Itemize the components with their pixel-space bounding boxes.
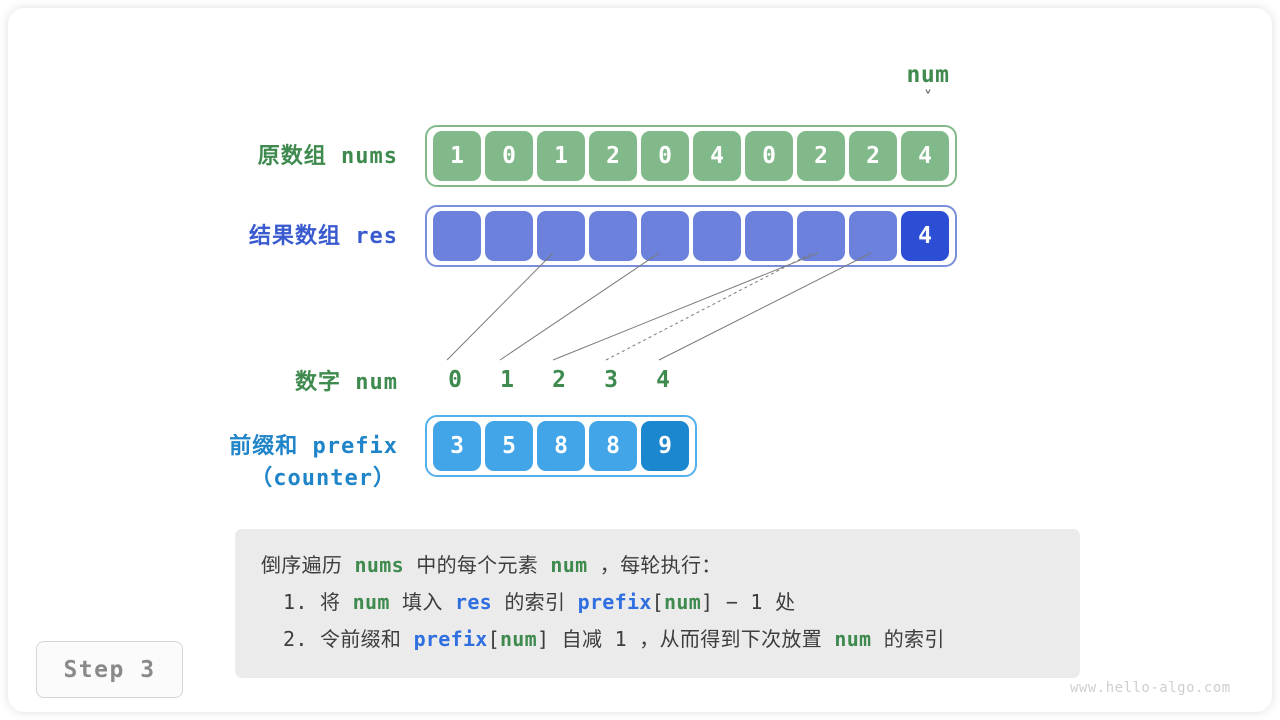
num-row-label: 数字 num — [68, 364, 398, 396]
desc2-part2: 填入 — [390, 590, 455, 614]
num-digit: 0 — [431, 367, 479, 393]
diagram-canvas: num ˅ 原数组 nums 结果数组 res 数字 num 前缀和 prefi… — [8, 8, 1272, 712]
desc1-token-nums: nums — [355, 553, 404, 577]
prefix-row-label-line1: 前缀和 prefix — [229, 434, 398, 459]
prefix-cell: 9 — [641, 421, 689, 471]
num-pointer-label: num — [888, 62, 968, 88]
num-digit: 4 — [639, 367, 687, 393]
desc2-token-num: num — [353, 590, 390, 614]
nums-cell: 1 — [537, 131, 585, 181]
desc3-part3: ] 自减 1 ，从而得到下次放置 — [537, 627, 834, 651]
nums-cell: 4 — [901, 131, 949, 181]
prefix-cell: 5 — [485, 421, 533, 471]
desc1-part1: 倒序遍历 — [261, 553, 355, 577]
description-line-1: 倒序遍历 nums 中的每个元素 num ，每轮执行： — [261, 547, 1054, 584]
num-digit: 3 — [587, 367, 635, 393]
desc2-part5: ] − 1 处 — [701, 590, 795, 614]
num-digit: 2 — [535, 367, 583, 393]
prefix-cell: 3 — [433, 421, 481, 471]
connector-line — [553, 253, 818, 360]
res-cell — [589, 211, 637, 261]
prefix-cell: 8 — [589, 421, 637, 471]
num-digit-row: 01234 — [425, 363, 693, 397]
desc1-token-num: num — [550, 553, 587, 577]
nums-cell: 2 — [797, 131, 845, 181]
desc3-token-prefix: prefix — [414, 627, 488, 651]
desc3-token-num: num — [834, 627, 871, 651]
res-cell — [797, 211, 845, 261]
desc2-part4: [ — [652, 590, 664, 614]
nums-cell: 1 — [433, 131, 481, 181]
desc3-part4: 的索引 — [871, 627, 944, 651]
res-cell — [537, 211, 585, 261]
prefix-cell: 8 — [537, 421, 585, 471]
nums-row-label: 原数组 nums — [68, 138, 398, 170]
description-line-3: 2. 令前缀和 prefix[num] 自减 1 ，从而得到下次放置 num 的… — [261, 621, 1054, 658]
res-cell: 4 — [901, 211, 949, 261]
nums-array: 1012040224 — [425, 125, 957, 187]
desc2-part1: 1. 将 — [283, 590, 353, 614]
nums-cell: 4 — [693, 131, 741, 181]
nums-cell: 2 — [589, 131, 637, 181]
res-cell — [745, 211, 793, 261]
desc1-part3: ，每轮执行： — [587, 553, 721, 577]
connector-line — [606, 253, 812, 360]
desc2-token-prefix: prefix — [578, 590, 652, 614]
desc3-token-num-index: num — [500, 627, 537, 651]
nums-cell: 0 — [641, 131, 689, 181]
connector-line — [447, 253, 553, 360]
num-digit: 1 — [483, 367, 531, 393]
connector-line — [659, 253, 871, 360]
prefix-array: 35889 — [425, 415, 697, 477]
prefix-row-label: 前缀和 prefix （counter） — [48, 428, 398, 492]
nums-cell: 2 — [849, 131, 897, 181]
desc3-part2: [ — [488, 627, 500, 651]
nums-cell: 0 — [745, 131, 793, 181]
res-cell — [641, 211, 689, 261]
description-box: 倒序遍历 nums 中的每个元素 num ，每轮执行： 1. 将 num 填入 … — [235, 529, 1080, 678]
step-badge: Step 3 — [36, 641, 183, 698]
res-row-label: 结果数组 res — [68, 218, 398, 250]
desc2-token-res: res — [455, 590, 492, 614]
res-cell — [485, 211, 533, 261]
watermark: www.hello-algo.com — [1070, 680, 1231, 696]
nums-cell: 0 — [485, 131, 533, 181]
desc1-part2: 中的每个元素 — [404, 553, 550, 577]
description-line-2: 1. 将 num 填入 res 的索引 prefix[num] − 1 处 — [261, 584, 1054, 621]
prefix-row-label-line2: （counter） — [48, 460, 398, 492]
res-cell — [693, 211, 741, 261]
res-cell — [849, 211, 897, 261]
connector-line — [500, 253, 659, 360]
desc2-part3: 的索引 — [492, 590, 578, 614]
desc3-part1: 2. 令前缀和 — [283, 627, 414, 651]
res-array: 4 — [425, 205, 957, 267]
num-pointer-arrow-icon: ˅ — [888, 90, 968, 107]
desc2-token-num-index: num — [664, 590, 701, 614]
res-cell — [433, 211, 481, 261]
